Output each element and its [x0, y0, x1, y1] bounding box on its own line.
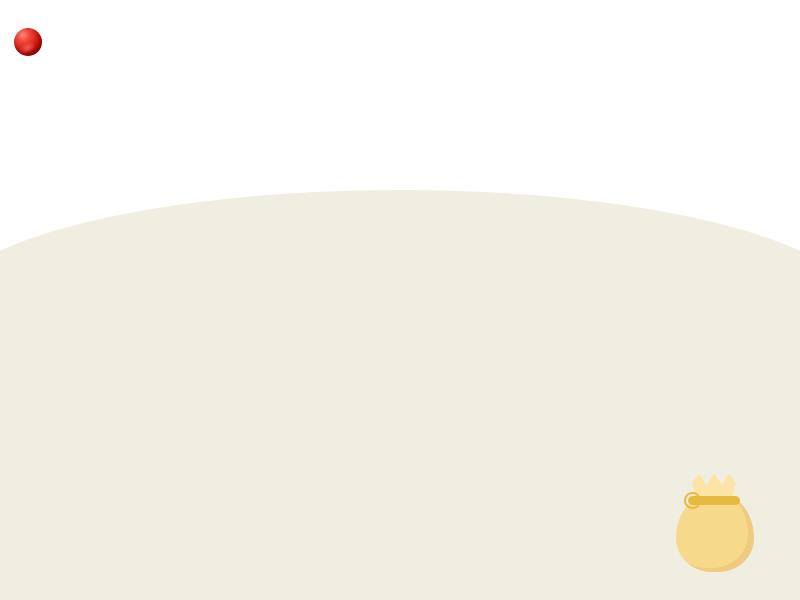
gold-coin-stack-icon	[734, 516, 792, 578]
money-illustration	[672, 468, 796, 580]
brand-logo	[14, 28, 49, 56]
slide-canvas	[0, 0, 800, 600]
seed-decoration-group	[660, 0, 800, 110]
red-orb-icon	[14, 28, 42, 56]
money-bag-knot	[684, 492, 701, 509]
